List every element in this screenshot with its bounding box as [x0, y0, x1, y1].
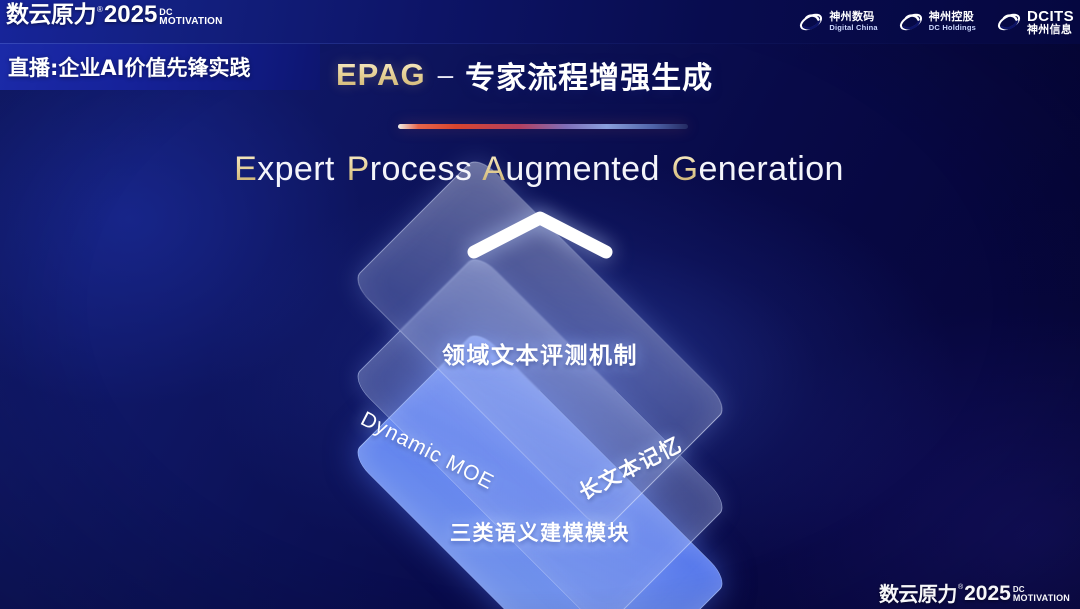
headline-dash: – — [436, 59, 456, 91]
partner-label-dc-holdings: 神州控股 DC Holdings — [929, 11, 976, 33]
headline-acronym: EPAG — [336, 57, 426, 93]
watermark-registered-mark-icon: ® — [958, 581, 963, 605]
live-broadcast-text: 直播:企业AI价值先锋实践 — [0, 52, 250, 82]
subtitle-capital-a: A — [482, 150, 505, 188]
partner-logo-digital-china: 神州数码 Digital China — [798, 9, 877, 35]
diagram-label-three-semantic-modules: 三类语义建模模块 — [290, 517, 790, 547]
partner-logo-dc-holdings: 神州控股 DC Holdings — [898, 9, 976, 35]
subtitle-rest-expert: xpert — [257, 150, 335, 188]
swirl-logo-icon — [898, 9, 924, 35]
watermark-name-cn: 数云原力 — [879, 583, 957, 605]
bottom-watermark-logo: 数云原力 ® 2025 DC MOTIVATION — [879, 581, 1070, 605]
live-broadcast-banner: 直播:企业AI价值先锋实践 — [0, 44, 320, 90]
partner-name-cn: 神州控股 — [929, 11, 976, 22]
subtitle-word-process: Process — [347, 150, 473, 188]
subtitle-capital-e: E — [234, 150, 257, 188]
partner-name-en: Digital China — [829, 22, 877, 33]
brand-year: 2025 — [104, 2, 157, 28]
layered-architecture-diagram: Dynamic MOE 长文本记忆 领域文本评测机制 三类语义建模模块 — [290, 228, 790, 568]
subtitle-rest-process: rocess — [370, 150, 473, 188]
brand-logo: 数云原力 ® 2025 DC MOTIVATION — [6, 2, 223, 28]
swirl-logo-icon — [996, 9, 1022, 35]
brand-name-cn: 数云原力 — [6, 2, 96, 28]
subtitle-word-expert: Expert — [234, 150, 335, 188]
slide-subtitle: Expert Process Augmented Generation — [0, 150, 1080, 194]
partner-logo-group: 神州数码 Digital China 神州控股 DC Holdings — [798, 5, 1074, 39]
brand-dc-motivation: DC MOTIVATION — [159, 8, 222, 28]
registered-mark-icon: ® — [97, 3, 103, 28]
subtitle-capital-g: G — [672, 150, 699, 188]
brand-dc-line2: MOTIVATION — [159, 17, 222, 26]
watermark-dc-motivation: DC MOTIVATION — [1013, 585, 1070, 605]
swirl-logo-icon — [798, 9, 824, 35]
slide-headline: EPAG – 专家流程增强生成 — [336, 55, 766, 95]
gradient-divider — [398, 124, 688, 129]
headline-chinese: 专家流程增强生成 — [465, 53, 713, 97]
subtitle-word-augmented: Augmented — [482, 150, 660, 188]
partner-name-cn: 神州数码 — [829, 11, 877, 22]
subtitle-rest-generation: eneration — [698, 150, 843, 188]
partner-label-dcits: DCITS 神州信息 — [1027, 9, 1074, 35]
diagram-label-domain-text-evaluation: 领域文本评测机制 — [290, 336, 790, 370]
slide-stage: 数云原力 ® 2025 DC MOTIVATION 直播:企业AI价值先锋实践 … — [0, 0, 1080, 609]
subtitle-capital-p: P — [347, 150, 370, 188]
partner-name-cn: 神州信息 — [1027, 24, 1074, 35]
subtitle-rest-augmented: ugmented — [505, 150, 659, 188]
partner-label-digital-china: 神州数码 Digital China — [829, 11, 877, 33]
watermark-year: 2025 — [964, 583, 1011, 605]
subtitle-word-generation: Generation — [672, 150, 844, 188]
partner-name-en: DC Holdings — [929, 22, 976, 33]
chevron-up-icon — [460, 206, 620, 262]
partner-logo-dcits: DCITS 神州信息 — [996, 9, 1074, 35]
partner-name-en: DCITS — [1027, 9, 1074, 24]
watermark-dc-line2: MOTIVATION — [1013, 594, 1070, 603]
